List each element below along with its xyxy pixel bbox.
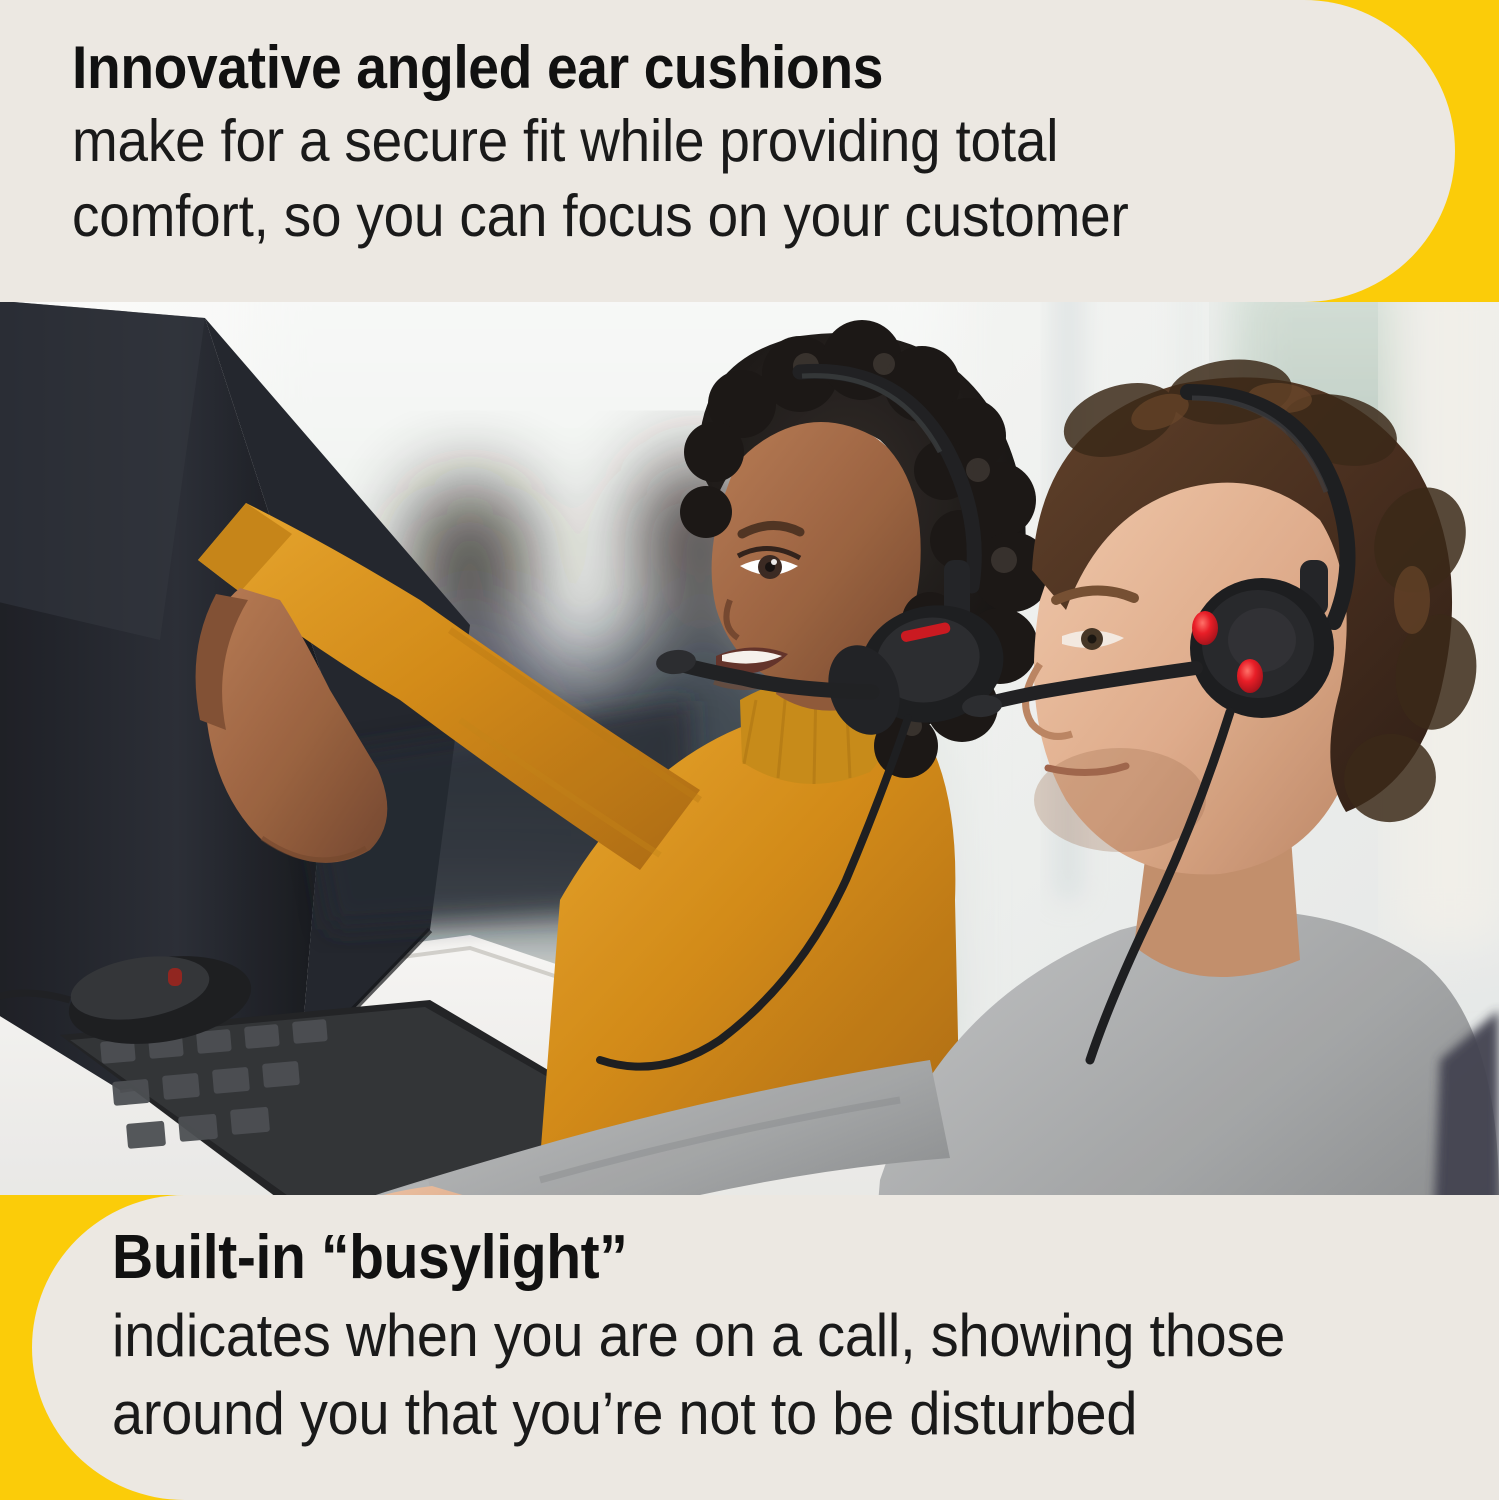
bottom-banner-subline-line-2: around you that you’re not to be disturb… bbox=[112, 1375, 1358, 1453]
bottom-banner-text: Built-in “busylight” indicates when you … bbox=[112, 1225, 1452, 1453]
bottom-banner-headline: Built-in “busylight” bbox=[112, 1225, 1345, 1291]
top-banner-text: Innovative angled ear cushions make for … bbox=[72, 36, 1372, 255]
top-banner-headline: Innovative angled ear cushions bbox=[72, 36, 1268, 100]
bottom-feature-banner: Built-in “busylight” indicates when you … bbox=[0, 1195, 1499, 1500]
top-banner-subline-line-2: comfort, so you can focus on your custom… bbox=[72, 179, 1281, 255]
bottom-banner-subline-line-1: indicates when you are on a call, showin… bbox=[112, 1297, 1358, 1375]
top-banner-subline-line-1: make for a secure fit while providing to… bbox=[72, 104, 1281, 180]
product-feature-poster: Innovative angled ear cushions make for … bbox=[0, 0, 1499, 1500]
bottom-banner-subline: indicates when you are on a call, showin… bbox=[112, 1297, 1358, 1453]
top-banner-subline: make for a secure fit while providing to… bbox=[72, 104, 1281, 255]
top-feature-banner: Innovative angled ear cushions make for … bbox=[0, 0, 1499, 302]
